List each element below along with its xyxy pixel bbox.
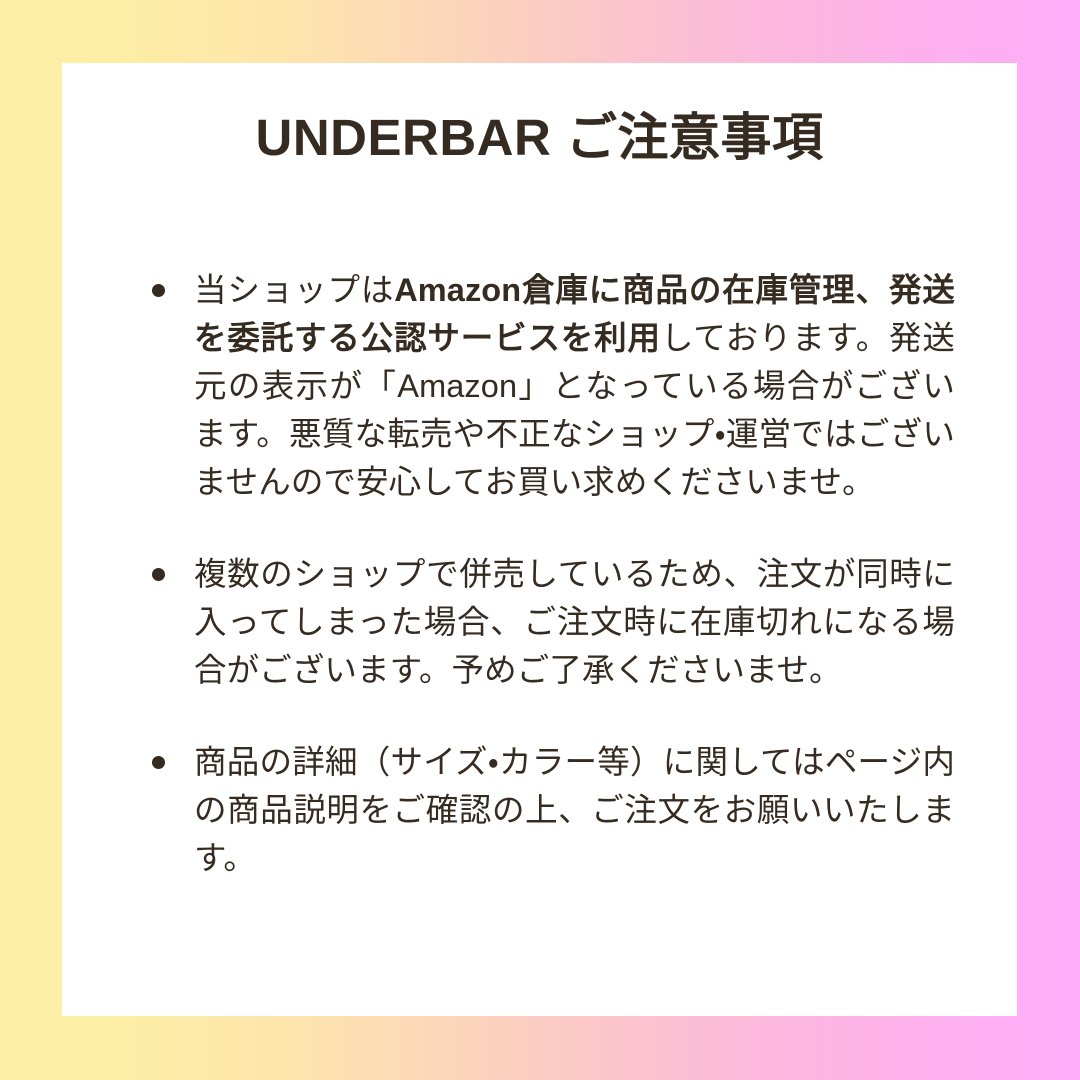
bullet-point-icon bbox=[152, 568, 165, 581]
body-text: 複数のショップで併売しているため、注文が同時に入ってしまった場合、ご注文時に在庫… bbox=[194, 556, 955, 688]
body-text: 当ショップは bbox=[194, 272, 394, 308]
notice-image-canvas: UNDERBAR ご注意事項 当ショップはAmazon倉庫に商品の在庫管理、発送… bbox=[0, 0, 1080, 1080]
list-item: 商品の詳細（サイズ・カラー等）に関してはページ内の商品説明をご確認の上、ご注文を… bbox=[152, 738, 955, 882]
page-title: UNDERBAR ご注意事項 bbox=[62, 107, 1017, 168]
list-item: 当ショップはAmazon倉庫に商品の在庫管理、発送を委託する公認サービスを利用し… bbox=[152, 266, 955, 506]
list-item-text: 当ショップはAmazon倉庫に商品の在庫管理、発送を委託する公認サービスを利用し… bbox=[194, 266, 955, 506]
list-item-text: 商品の詳細（サイズ・カラー等）に関してはページ内の商品説明をご確認の上、ご注文を… bbox=[194, 738, 955, 882]
list-item-text: 複数のショップで併売しているため、注文が同時に入ってしまった場合、ご注文時に在庫… bbox=[194, 550, 955, 694]
bullet-point-icon bbox=[152, 756, 165, 769]
bullet-point-icon bbox=[152, 284, 165, 297]
body-text: 商品の詳細（サイズ・カラー等）に関してはページ内の商品説明をご確認の上、ご注文を… bbox=[194, 744, 955, 876]
notice-card-content: UNDERBAR ご注意事項 当ショップはAmazon倉庫に商品の在庫管理、発送… bbox=[152, 63, 955, 1016]
notice-card: UNDERBAR ご注意事項 当ショップはAmazon倉庫に商品の在庫管理、発送… bbox=[62, 63, 1017, 1016]
list-item: 複数のショップで併売しているため、注文が同時に入ってしまった場合、ご注文時に在庫… bbox=[152, 550, 955, 694]
notice-bullet-list: 当ショップはAmazon倉庫に商品の在庫管理、発送を委託する公認サービスを利用し… bbox=[152, 266, 955, 882]
